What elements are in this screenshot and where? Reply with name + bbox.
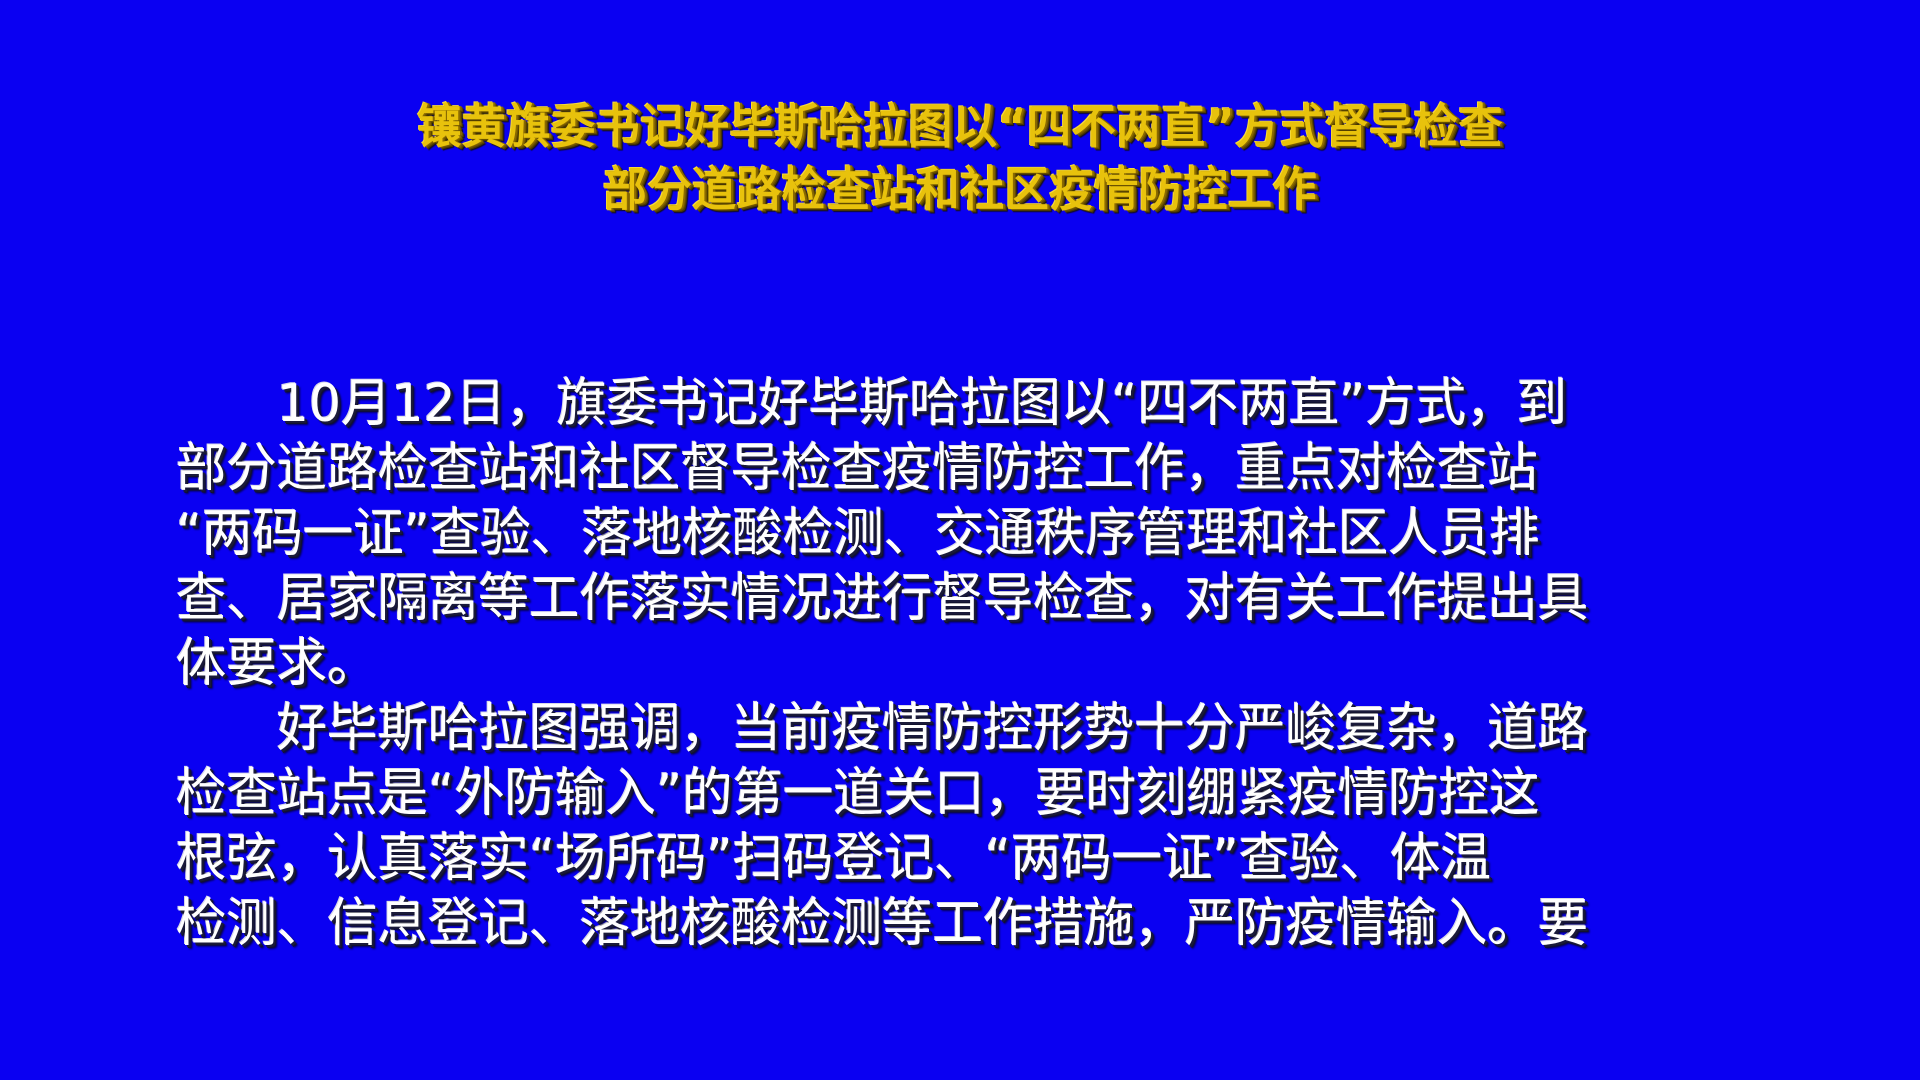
body-line: 检查站点是“外防输入”的第一道关口，要时刻绷紧疫情防控这 — [176, 762, 1697, 827]
body-line: 根弦，认真落实“场所码”扫码登记、“两码一证”查验、体温 — [176, 827, 1697, 892]
body-line: “两码一证”查验、落地核酸检测、交通秩序管理和社区人员排 — [176, 502, 1697, 567]
headline-line-1: 镶黄旗委书记好毕斯哈拉图以“四不两直”方式督导检查 — [142, 96, 1778, 159]
news-title-card: 镶黄旗委书记好毕斯哈拉图以“四不两直”方式督导检查 部分道路检查站和社区疫情防控… — [0, 0, 1920, 1080]
headline-line-2: 部分道路检查站和社区疫情防控工作 — [142, 159, 1778, 222]
paragraph-2: 好毕斯哈拉图强调，当前疫情防控形势十分严峻复杂，道路 检查站点是“外防输入”的第… — [176, 697, 1744, 957]
body-line: 10月12日，旗委书记好毕斯哈拉图以“四不两直”方式，到 — [176, 372, 1697, 437]
body-line: 检测、信息登记、落地核酸检测等工作措施，严防疫情输入。要 — [176, 892, 1697, 957]
body-line: 查、居家隔离等工作落实情况进行督导检查，对有关工作提出具 — [176, 567, 1697, 632]
body-line: 体要求。 — [176, 632, 1697, 697]
headline: 镶黄旗委书记好毕斯哈拉图以“四不两直”方式督导检查 部分道路检查站和社区疫情防控… — [0, 96, 1920, 222]
body-line: 好毕斯哈拉图强调，当前疫情防控形势十分严峻复杂，道路 — [176, 697, 1697, 762]
body-text: 10月12日，旗委书记好毕斯哈拉图以“四不两直”方式，到 部分道路检查站和社区督… — [0, 372, 1920, 957]
paragraph-1: 10月12日，旗委书记好毕斯哈拉图以“四不两直”方式，到 部分道路检查站和社区督… — [176, 372, 1744, 697]
body-line: 部分道路检查站和社区督导检查疫情防控工作，重点对检查站 — [176, 437, 1697, 502]
